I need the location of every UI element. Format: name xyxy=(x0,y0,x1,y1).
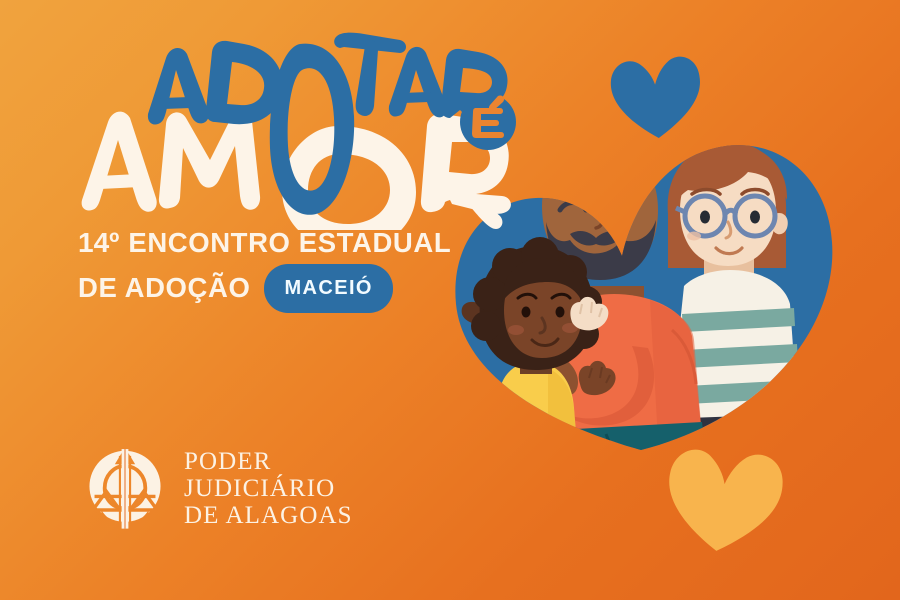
event-title-block: 14ºENCONTRO ESTADUAL DE ADOÇÃO MACEIÓ xyxy=(78,226,548,312)
event-title-line-1: 14ºENCONTRO ESTADUAL xyxy=(78,226,548,260)
court-wordmark-line-2: JUDICIÁRIO xyxy=(184,475,353,502)
city-badge: MACEIÓ xyxy=(264,264,392,313)
court-logo: PODER JUDICIÁRIO DE ALAGOAS xyxy=(82,444,353,532)
court-wordmark-line-3: DE ALAGOAS xyxy=(184,502,353,529)
logotype-amor xyxy=(82,110,511,230)
event-title-line-2: DE ADOÇÃO MACEIÓ xyxy=(78,263,548,312)
event-title-main: ENCONTRO ESTADUAL xyxy=(128,227,451,258)
yellow-heart-icon xyxy=(659,442,789,560)
event-ordinal: 14º xyxy=(78,227,119,258)
poder-judiciario-emblem-icon xyxy=(82,444,168,532)
campaign-logotype xyxy=(0,0,560,230)
poster-canvas: 14ºENCONTRO ESTADUAL DE ADOÇÃO MACEIÓ xyxy=(0,0,900,600)
logotype-e-accent xyxy=(460,94,516,150)
court-wordmark-line-1: PODER xyxy=(184,448,353,475)
court-wordmark: PODER JUDICIÁRIO DE ALAGOAS xyxy=(184,448,353,529)
event-subtitle: DE ADOÇÃO xyxy=(78,271,250,305)
